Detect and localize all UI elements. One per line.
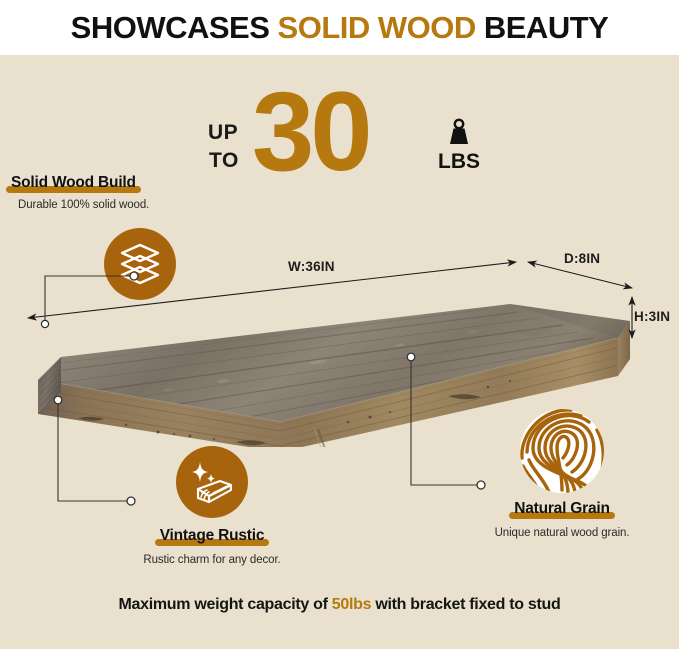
wood-grain-icon xyxy=(519,408,605,494)
capacity-unit-group: LBS xyxy=(428,118,490,174)
footer-highlight: 50lbs xyxy=(332,596,371,613)
dimension-depth-label: D:8IN xyxy=(564,251,600,266)
feature-description: Unique natural wood grain. xyxy=(462,527,662,539)
dimension-width-label: W:36IN xyxy=(288,259,335,274)
feature-title-row: Natural Grain xyxy=(462,500,662,518)
feature-title-row: Vintage Rustic xyxy=(112,527,312,545)
headline-part1: SHOWCASES xyxy=(71,10,278,45)
capacity-unit-label: LBS xyxy=(428,150,490,174)
page-title: SHOWCASES SOLID WOOD BEAUTY xyxy=(71,12,609,43)
footer-part1: Maximum weight capacity of xyxy=(119,596,332,613)
headline-highlight: SOLID WOOD xyxy=(278,10,476,45)
feature-natural-grain: Natural Grain Unique natural wood grain. xyxy=(462,408,662,539)
feature-title: Natural Grain xyxy=(509,500,615,518)
headline-part2: BEAUTY xyxy=(476,10,609,45)
footer-part2: with bracket fixed to stud xyxy=(371,596,560,613)
dimension-height-label: H:3IN xyxy=(634,309,670,324)
weight-icon xyxy=(444,118,474,148)
stacked-wood-slabs-icon xyxy=(104,228,176,300)
feature-solid-wood-build: Solid Wood Build Durable 100% solid wood… xyxy=(6,174,206,211)
feature-description: Durable 100% solid wood. xyxy=(18,199,206,211)
feature-title-row: Solid Wood Build xyxy=(6,174,206,192)
feature-title: Solid Wood Build xyxy=(6,174,141,192)
feature-vintage-rustic: Vintage Rustic Rustic charm for any deco… xyxy=(112,446,312,566)
feature-description: Rustic charm for any decor. xyxy=(112,554,312,566)
header-band: SHOWCASES SOLID WOOD BEAUTY xyxy=(0,0,679,55)
capacity-number: 30 xyxy=(252,76,369,188)
footer-capacity-note: Maximum weight capacity of 50lbs with br… xyxy=(0,596,679,614)
weight-capacity-block: UP TO 30 LBS xyxy=(200,82,490,190)
wood-plank-sparkle-icon xyxy=(176,446,248,518)
infographic-page: SHOWCASES SOLID WOOD BEAUTY xyxy=(0,0,679,649)
feature-title: Vintage Rustic xyxy=(155,527,270,545)
